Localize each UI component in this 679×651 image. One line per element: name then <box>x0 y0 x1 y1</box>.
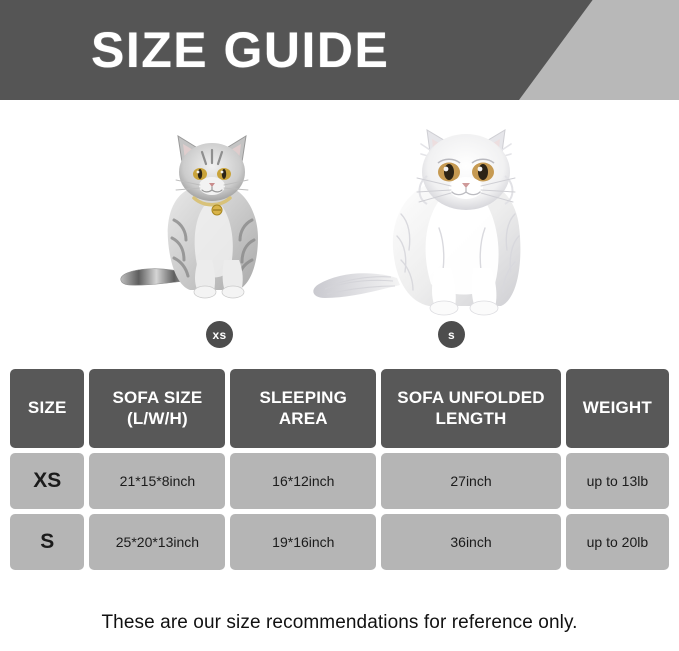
cell-sleeping-area: 16*12inch <box>230 453 376 509</box>
banner-diagonal-accent <box>519 0 679 100</box>
table-header-row: SIZE SOFA SIZE(L/W/H) SLEEPINGAREA SOFA … <box>10 369 669 448</box>
illustration-row: xs s <box>0 100 679 355</box>
cell-weight: up to 13lb <box>566 453 669 509</box>
white-persian-cat-icon <box>305 118 550 318</box>
cell-sleeping-area: 19*16inch <box>230 514 376 570</box>
table-row: S 25*20*13inch 19*16inch 36inch up to 20… <box>10 514 669 570</box>
cell-sofa-size: 21*15*8inch <box>89 453 225 509</box>
header-cell-sofa-unfolded-length: SOFA UNFOLDEDLENGTH <box>381 369 561 448</box>
header-cell-weight: WEIGHT <box>566 369 669 448</box>
size-badge-s: s <box>438 321 465 348</box>
cell-sofa-unfolded-length: 27inch <box>381 453 561 509</box>
header-cell-sofa-size: SOFA SIZE(L/W/H) <box>89 369 225 448</box>
silver-tabby-cat-icon <box>112 128 297 313</box>
cell-sofa-size: 25*20*13inch <box>89 514 225 570</box>
page-title: SIZE GUIDE <box>91 25 389 75</box>
size-table: SIZE SOFA SIZE(L/W/H) SLEEPINGAREA SOFA … <box>10 369 669 570</box>
table-row: XS 21*15*8inch 16*12inch 27inch up to 13… <box>10 453 669 509</box>
cell-weight: up to 20lb <box>566 514 669 570</box>
header-cell-sleeping-area: SLEEPINGAREA <box>230 369 376 448</box>
header-cell-size: SIZE <box>10 369 84 448</box>
cat-image-xs <box>112 128 297 313</box>
cat-image-s <box>305 118 550 318</box>
cell-sofa-unfolded-length: 36inch <box>381 514 561 570</box>
cell-size: XS <box>10 453 84 509</box>
size-guide-banner: SIZE GUIDE <box>0 0 679 100</box>
cell-size: S <box>10 514 84 570</box>
size-badge-xs: xs <box>206 321 233 348</box>
footer-note: These are our size recommendations for r… <box>0 612 679 634</box>
